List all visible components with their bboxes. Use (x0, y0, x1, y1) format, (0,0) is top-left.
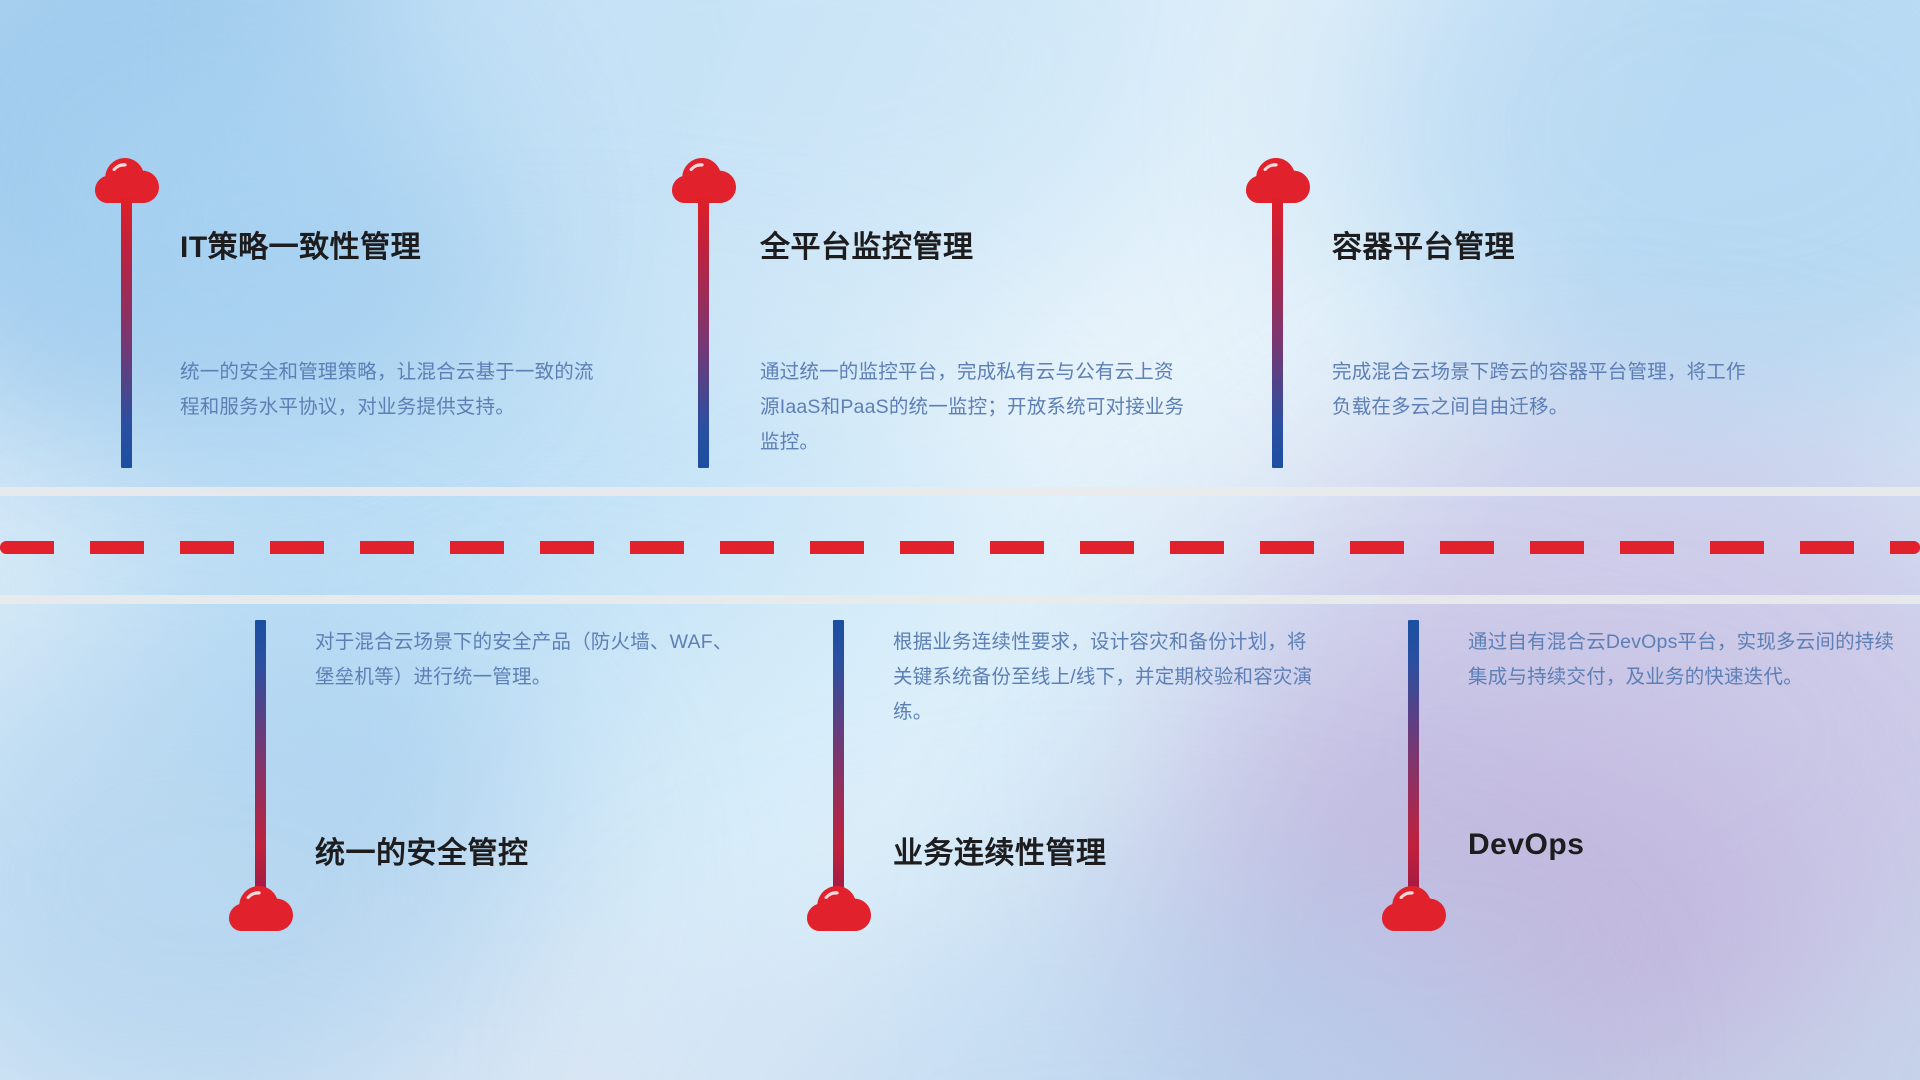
stem-bar (1272, 198, 1283, 468)
stem-bar (1408, 620, 1419, 890)
divider-rule-bottom (0, 595, 1920, 604)
top-item-2-desc: 通过统一的监控平台，完成私有云与公有云上资源IaaS和PaaS的统一监控；开放系… (760, 355, 1190, 460)
top-item-1-title: IT策略一致性管理 (180, 222, 421, 266)
top-item-3-title: 容器平台管理 (1332, 222, 1515, 266)
bottom-item-2-title: 业务连续性管理 (893, 828, 1107, 872)
cloud-pin-icon (1382, 886, 1446, 932)
divider-dashed-line (0, 541, 1920, 554)
stem-bar (255, 620, 266, 890)
cloud-pin-icon (807, 886, 871, 932)
stem-bar (698, 198, 709, 468)
divider-rule-top (0, 487, 1920, 496)
bottom-item-3-desc: 通过自有混合云DevOps平台，实现多云间的持续集成与持续交付，及业务的快速迭代… (1468, 625, 1898, 695)
bottom-item-2-desc: 根据业务连续性要求，设计容灾和备份计划，将关键系统备份至线上/线下，并定期校验和… (893, 625, 1323, 730)
top-item-3-desc: 完成混合云场景下跨云的容器平台管理，将工作负载在多云之间自由迁移。 (1332, 355, 1762, 425)
bottom-item-1-desc: 对于混合云场景下的安全产品（防火墙、WAF、堡垒机等）进行统一管理。 (315, 625, 745, 695)
top-item-2-title: 全平台监控管理 (760, 222, 974, 266)
top-item-1-desc: 统一的安全和管理策略，让混合云基于一致的流程和服务水平协议，对业务提供支持。 (180, 355, 610, 425)
bottom-item-3-title: DevOps (1468, 828, 1584, 862)
stem-bar (121, 198, 132, 468)
infographic-canvas: IT策略一致性管理 统一的安全和管理策略，让混合云基于一致的流程和服务水平协议，… (0, 0, 1920, 1080)
cloud-pin-icon (229, 886, 293, 932)
bottom-item-1-title: 统一的安全管控 (315, 828, 529, 872)
stem-bar (833, 620, 844, 890)
